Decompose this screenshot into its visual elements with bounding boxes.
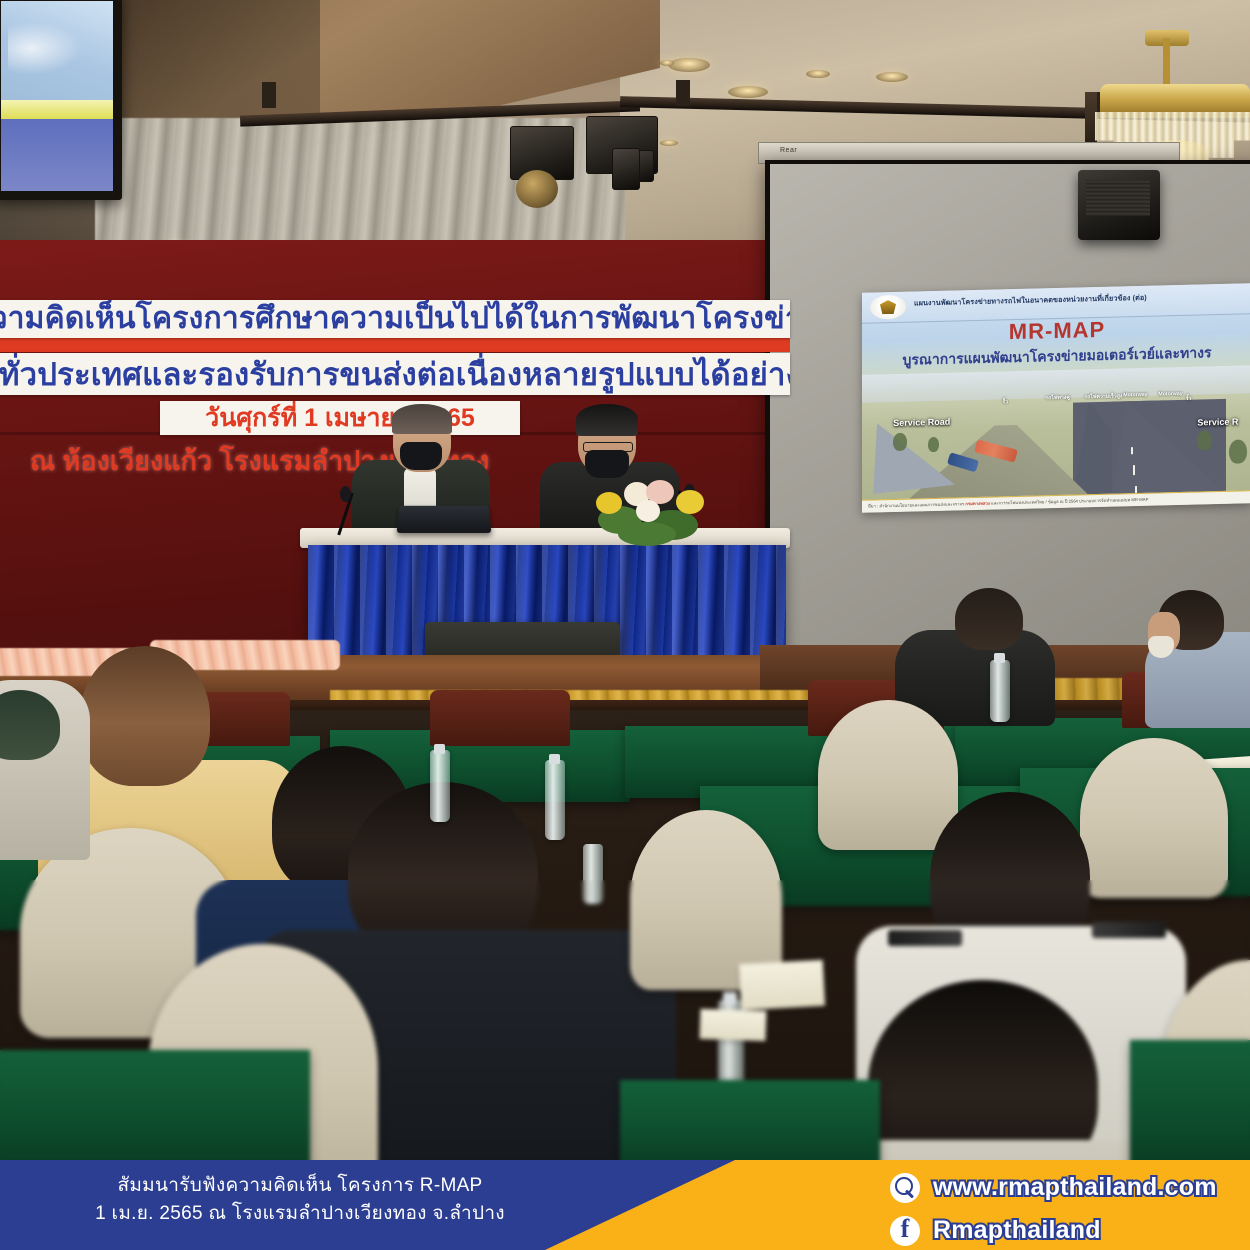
lane-dash-1 <box>1131 447 1133 454</box>
speaker-laptop <box>397 506 492 533</box>
downlight-4 <box>668 58 710 72</box>
tv-blue-band <box>1 119 113 191</box>
attendee-mid-left-head <box>80 646 210 786</box>
slide-footnote-tail: และการรถไฟแห่งประเทศไทย / ข้อมูล ณ ปี 25… <box>991 496 1148 505</box>
screenshot-root: Rear แผนงานพัฒนาโครงข่ายทางรถไฟในอนาคตขอ… <box>0 0 1250 1250</box>
speaker-left-hair <box>392 404 452 434</box>
chair-wood-far-center <box>430 690 570 746</box>
foreground-depth-blur <box>0 880 1250 1180</box>
chandelier-rod <box>1163 38 1170 90</box>
facebook-icon: f <box>890 1216 920 1246</box>
seminar-photograph: Rear แผนงานพัฒนาโครงข่ายทางรถไฟในอนาคตขอ… <box>0 0 1250 1250</box>
label-service-road-right: Service R <box>1197 417 1238 428</box>
footer-contact-links: www.rmapthailand.com f Rmapthailand <box>890 1170 1217 1248</box>
render-tree-1 <box>893 433 907 451</box>
footer-facebook-row[interactable]: f Rmapthailand <box>890 1213 1217 1248</box>
banner-red-strip <box>0 336 790 352</box>
slide-footnote-plain: ที่มา : สำนักงานนโยบายและแผนการขนส่งและจ… <box>868 501 964 508</box>
speaker-right-face-mask <box>585 450 629 478</box>
footer-website-row[interactable]: www.rmapthailand.com <box>890 1170 1217 1205</box>
chair-mid-right-2 <box>1080 738 1228 898</box>
water-bottle-mid-2 <box>545 760 565 840</box>
downlight-5 <box>806 70 830 78</box>
speaker-left-face-mask <box>400 442 442 470</box>
water-bottle-far-1 <box>990 660 1010 722</box>
label-motorway-right: Motorway <box>1158 391 1182 398</box>
downlight-6 <box>876 72 908 82</box>
label-service-road-left: Service Road <box>893 416 950 427</box>
bottle-cap-far-1 <box>994 653 1005 663</box>
footer-event-datetime-venue: 1 เม.ย. 2565 ณ โรงแรมลำปางเวียงทอง จ.ลำป… <box>0 1200 600 1228</box>
spotlight-lens-1 <box>516 170 558 208</box>
tv-yellow-band <box>1 100 113 119</box>
downlight-7 <box>728 86 768 98</box>
flower-white-2 <box>636 500 660 522</box>
projected-slide: แผนงานพัฒนาโครงข่ายทางรถไฟในอนาคตของหน่ว… <box>862 283 1250 513</box>
flower-yellow-1 <box>596 492 622 514</box>
banner-line-3-box: วันศุกร์ที่ 1 เมษายน 2565 <box>160 401 520 435</box>
flower-leaf-3 <box>618 522 676 546</box>
downlight-8 <box>660 60 674 66</box>
screen-housing-label: Rear <box>780 147 797 154</box>
magnifier-glyph <box>894 1177 916 1199</box>
truss-clamp-1 <box>262 82 276 108</box>
footer-website-text[interactable]: www.rmapthailand.com <box>933 1173 1217 1202</box>
banner-line-1: ฟังความคิดเห็นโครงการศึกษาความเป็นไปได้ใ… <box>0 304 790 334</box>
projector-vent <box>1086 180 1150 216</box>
tv-clouds <box>8 20 86 77</box>
bottle-cap-mid-1 <box>434 744 445 754</box>
speaker-right-hair <box>576 404 638 436</box>
footer-event-title: สัมมนารับฟังความคิดเห็น โครงการ R-MAP <box>0 1172 600 1200</box>
table-flower-arrangement <box>592 478 710 550</box>
attendee-far-right-1-head <box>955 588 1023 650</box>
magnifier-icon <box>890 1173 920 1203</box>
slide-render-photo: Service Road Service R รั้ว รั้ว รถไฟทาง… <box>862 365 1250 503</box>
footer-event-info: สัมมนารับฟังความคิดเห็น โครงการ R-MAP 1 … <box>0 1172 600 1227</box>
truss-clamp-2 <box>676 80 690 106</box>
flower-yellow-2 <box>676 490 704 514</box>
microphone-head-left <box>340 486 351 502</box>
slide-logo-emblem <box>880 300 896 314</box>
wall-tv-monitor <box>0 0 122 200</box>
label-fence-left: รั้ว <box>1002 398 1008 406</box>
facebook-glyph: f <box>901 1216 910 1242</box>
banner-line-2-box: พื้นที่ทั่วประเทศและรองรับการขนส่งต่อเนื… <box>0 353 790 395</box>
slide-footnote-red: กรมทางหลวง <box>965 500 989 506</box>
lane-dash-2 <box>1133 465 1135 475</box>
banner-line-1-box: ฟังความคิดเห็นโครงการศึกษาความเป็นไปได้ใ… <box>0 300 790 338</box>
footer-banner: สัมมนารับฟังความคิดเห็น โครงการ R-MAP 1 … <box>0 1160 1250 1250</box>
downlight-10 <box>660 140 678 146</box>
chair-mid-right-1 <box>818 700 958 850</box>
footer-facebook-text[interactable]: Rmapthailand <box>933 1216 1101 1245</box>
label-high-speed-rail: รถไฟความเร็วสูง <box>1084 393 1122 402</box>
label-freight-rail: รถไฟทางคู่ <box>1045 394 1070 403</box>
label-fence-right: รั้ว <box>1186 395 1192 403</box>
banner-line-2: พื้นที่ทั่วประเทศและรองรับการขนส่งต่อเนื… <box>0 359 790 390</box>
stage-spotlight-4 <box>612 148 640 190</box>
water-bottle-mid-1 <box>430 750 450 822</box>
label-motorway-left: Motorway <box>1123 392 1147 399</box>
render-tree-4 <box>1229 440 1247 464</box>
bottle-cap-mid-2 <box>549 754 560 764</box>
